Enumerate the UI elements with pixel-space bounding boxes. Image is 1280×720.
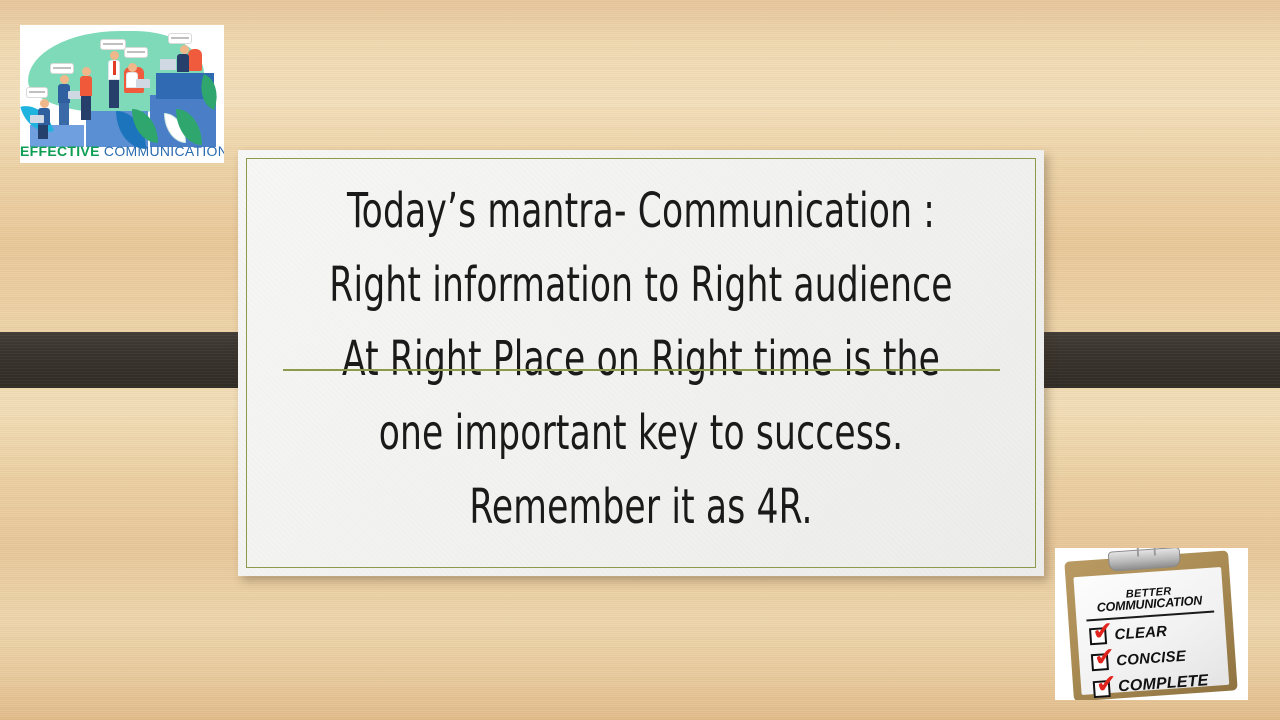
checklist-label-clear: CLEAR <box>1114 623 1168 644</box>
illustration-speech-bubble <box>26 87 48 98</box>
body-line-4: one important key to success. <box>319 396 964 470</box>
illustration-speech-bubble <box>100 39 126 50</box>
check-icon: ✔ <box>1095 673 1115 693</box>
caption-communication: COMMUNICATION <box>104 143 224 159</box>
checklist-item-complete: ✔ COMPLETE <box>1093 672 1209 698</box>
slide-body-text: Today’s mantra- Communication : Right in… <box>319 174 964 544</box>
presentation-slide: Today’s mantra- Communication : Right in… <box>0 0 1280 720</box>
illustration-caption: EFFECTIVE COMMUNICATION <box>20 143 224 159</box>
checklist-label-complete: COMPLETE <box>1118 672 1210 696</box>
check-icon: ✔ <box>1092 621 1112 641</box>
illustration-chair <box>188 49 202 71</box>
content-card: Today’s mantra- Communication : Right in… <box>238 150 1044 576</box>
checkbox-complete[interactable]: ✔ <box>1093 680 1111 698</box>
body-line-5: Remember it as 4R. <box>319 470 964 544</box>
clipboard-title: BETTER COMMUNICATION <box>1081 583 1218 614</box>
checklist-item-concise: ✔ CONCISE <box>1091 648 1187 672</box>
checklist-label-concise: CONCISE <box>1116 648 1187 670</box>
check-icon: ✔ <box>1093 647 1113 667</box>
illustration-speech-bubble <box>124 47 148 58</box>
clipboard-clasp-icon <box>1108 548 1181 572</box>
decorative-band-right <box>1022 332 1280 388</box>
body-line-2: Right information to Right audience <box>319 248 964 322</box>
better-communication-clipboard-image: BETTER COMMUNICATION ✔ CLEAR ✔ CONCISE <box>1055 548 1248 700</box>
body-line-3: At Right Place on Right time is the <box>319 322 964 396</box>
caption-effective: EFFECTIVE <box>20 143 100 159</box>
illustration-speech-bubble <box>168 33 192 44</box>
clipboard: BETTER COMMUNICATION ✔ CLEAR ✔ CONCISE <box>1064 550 1237 700</box>
body-line-1: Today’s mantra- Communication : <box>319 174 964 248</box>
clipboard-paper: BETTER COMMUNICATION ✔ CLEAR ✔ CONCISE <box>1073 567 1229 695</box>
effective-communication-illustration: EFFECTIVE COMMUNICATION <box>20 25 224 163</box>
illustration-speech-bubble <box>50 63 74 74</box>
accent-rule <box>283 369 1000 371</box>
